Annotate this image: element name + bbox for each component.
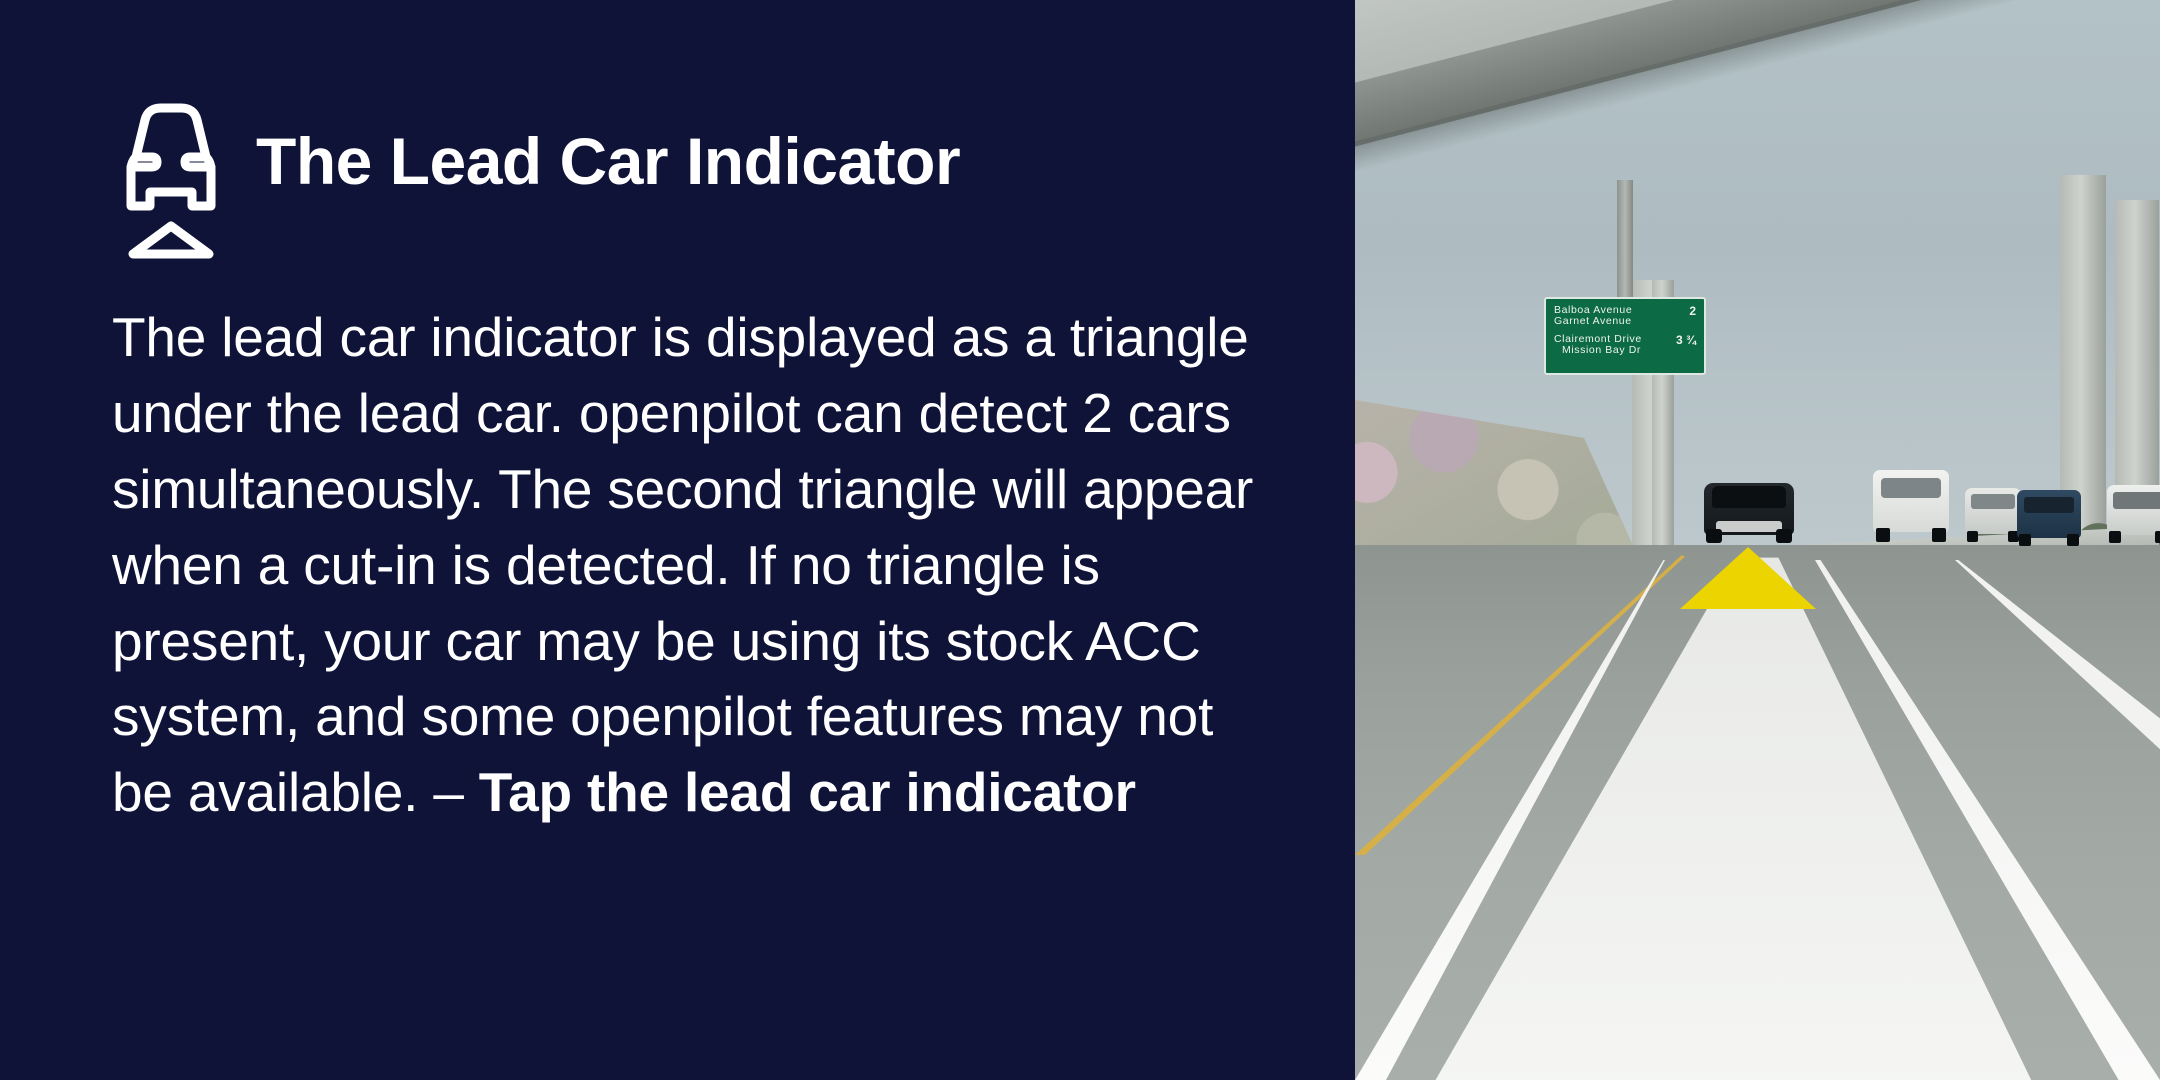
body-text-main: The lead car indicator is displayed as a… bbox=[112, 306, 1253, 823]
sign-post bbox=[1617, 180, 1633, 300]
highway-exit-sign: Balboa Avenue Garnet Avenue 2 Clairemont… bbox=[1544, 297, 1706, 375]
sign-distance-2: 3 ¾ bbox=[1672, 334, 1696, 347]
lead-car-indicator-slide: The Lead Car Indicator The lead car indi… bbox=[0, 0, 2160, 1080]
sign-line-4: Mission Bay Dr bbox=[1562, 345, 1642, 356]
lead-car-with-triangle-icon bbox=[112, 94, 230, 259]
lead-car-triangle-overlay[interactable] bbox=[1680, 547, 1816, 609]
panel-body-text: The lead car indicator is displayed as a… bbox=[112, 300, 1262, 831]
cta-tap-lead-car-indicator[interactable]: Tap the lead car indicator bbox=[479, 761, 1136, 823]
sign-line-2: Garnet Avenue bbox=[1554, 316, 1632, 327]
panel-header: The Lead Car Indicator bbox=[112, 92, 960, 259]
traffic-car-white bbox=[1873, 470, 1949, 546]
info-panel: The Lead Car Indicator The lead car indi… bbox=[0, 0, 1355, 1080]
lead-car bbox=[1704, 477, 1794, 545]
sign-distance-1: 2 bbox=[1685, 305, 1696, 318]
traffic-car-suv bbox=[2107, 485, 2160, 547]
body-text-tail: available. – bbox=[188, 761, 479, 823]
highway-dashcam-photo: Balboa Avenue Garnet Avenue 2 Clairemont… bbox=[1355, 0, 2160, 1080]
traffic-car-blue bbox=[2017, 490, 2081, 548]
traffic-car-silver bbox=[1965, 488, 2021, 546]
page-title: The Lead Car Indicator bbox=[256, 128, 960, 194]
